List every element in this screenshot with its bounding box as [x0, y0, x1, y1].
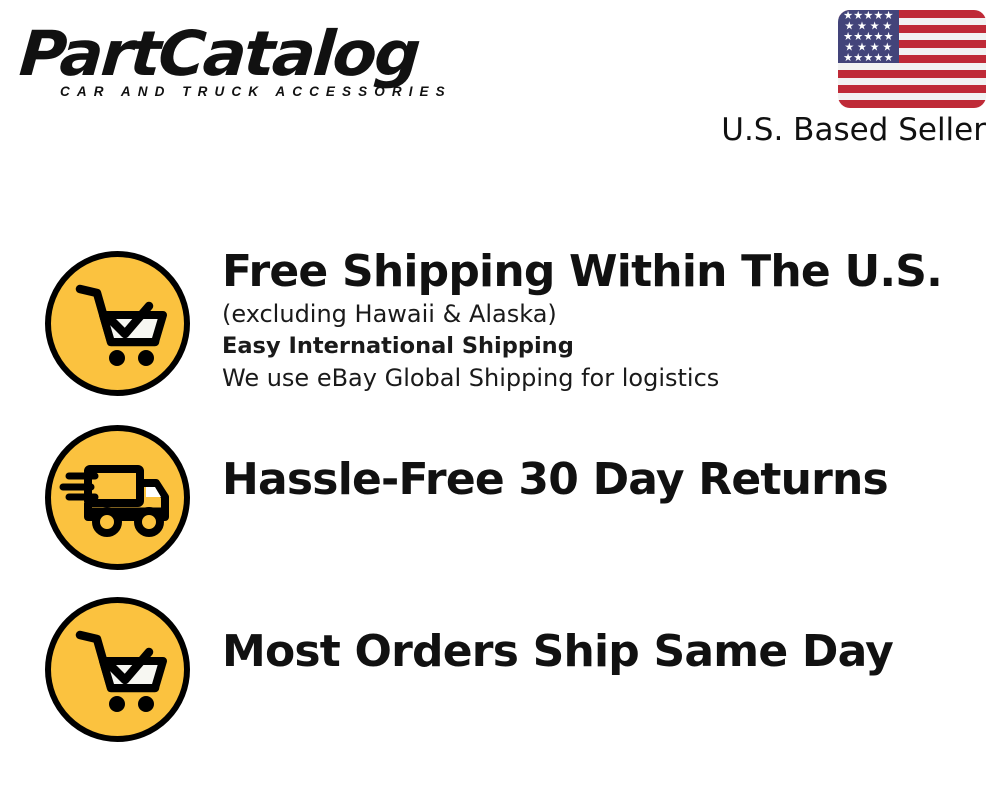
- feature-row: Hassle-Free 30 Day Returns: [0, 420, 1000, 592]
- feature-row: Free Shipping Within The U.S. (excluding…: [0, 246, 1000, 418]
- flag-canton: [838, 10, 899, 63]
- us-based-seller-badge: U.S. Based Seller: [706, 10, 986, 148]
- feature-subhead: Easy International Shipping: [222, 330, 982, 362]
- feature-headline: Free Shipping Within The U.S.: [222, 246, 982, 298]
- shopping-cart-check-icon: [45, 251, 190, 396]
- feature-row: Most Orders Ship Same Day: [0, 592, 1000, 764]
- seller-badge-label: U.S. Based Seller: [706, 112, 986, 148]
- feature-text: Free Shipping Within The U.S. (excluding…: [222, 246, 982, 394]
- shopping-cart-check-icon: [45, 597, 190, 742]
- feature-headline: Most Orders Ship Same Day: [222, 626, 982, 678]
- feature-text: Most Orders Ship Same Day: [222, 592, 982, 678]
- feature-note: (excluding Hawaii & Alaska): [222, 298, 982, 330]
- feature-text: Hassle-Free 30 Day Returns: [222, 420, 982, 506]
- feature-subtext: We use eBay Global Shipping for logistic…: [222, 362, 982, 394]
- brand-wordmark: PartCatalog: [17, 22, 510, 86]
- brand-logo[interactable]: PartCatalog CAR AND TRUCK ACCESSORIES: [22, 22, 492, 100]
- us-flag-icon: [838, 10, 986, 108]
- fast-delivery-truck-icon: [45, 425, 190, 570]
- page-header: PartCatalog CAR AND TRUCK ACCESSORIES: [0, 0, 1000, 175]
- feature-headline: Hassle-Free 30 Day Returns: [222, 454, 982, 506]
